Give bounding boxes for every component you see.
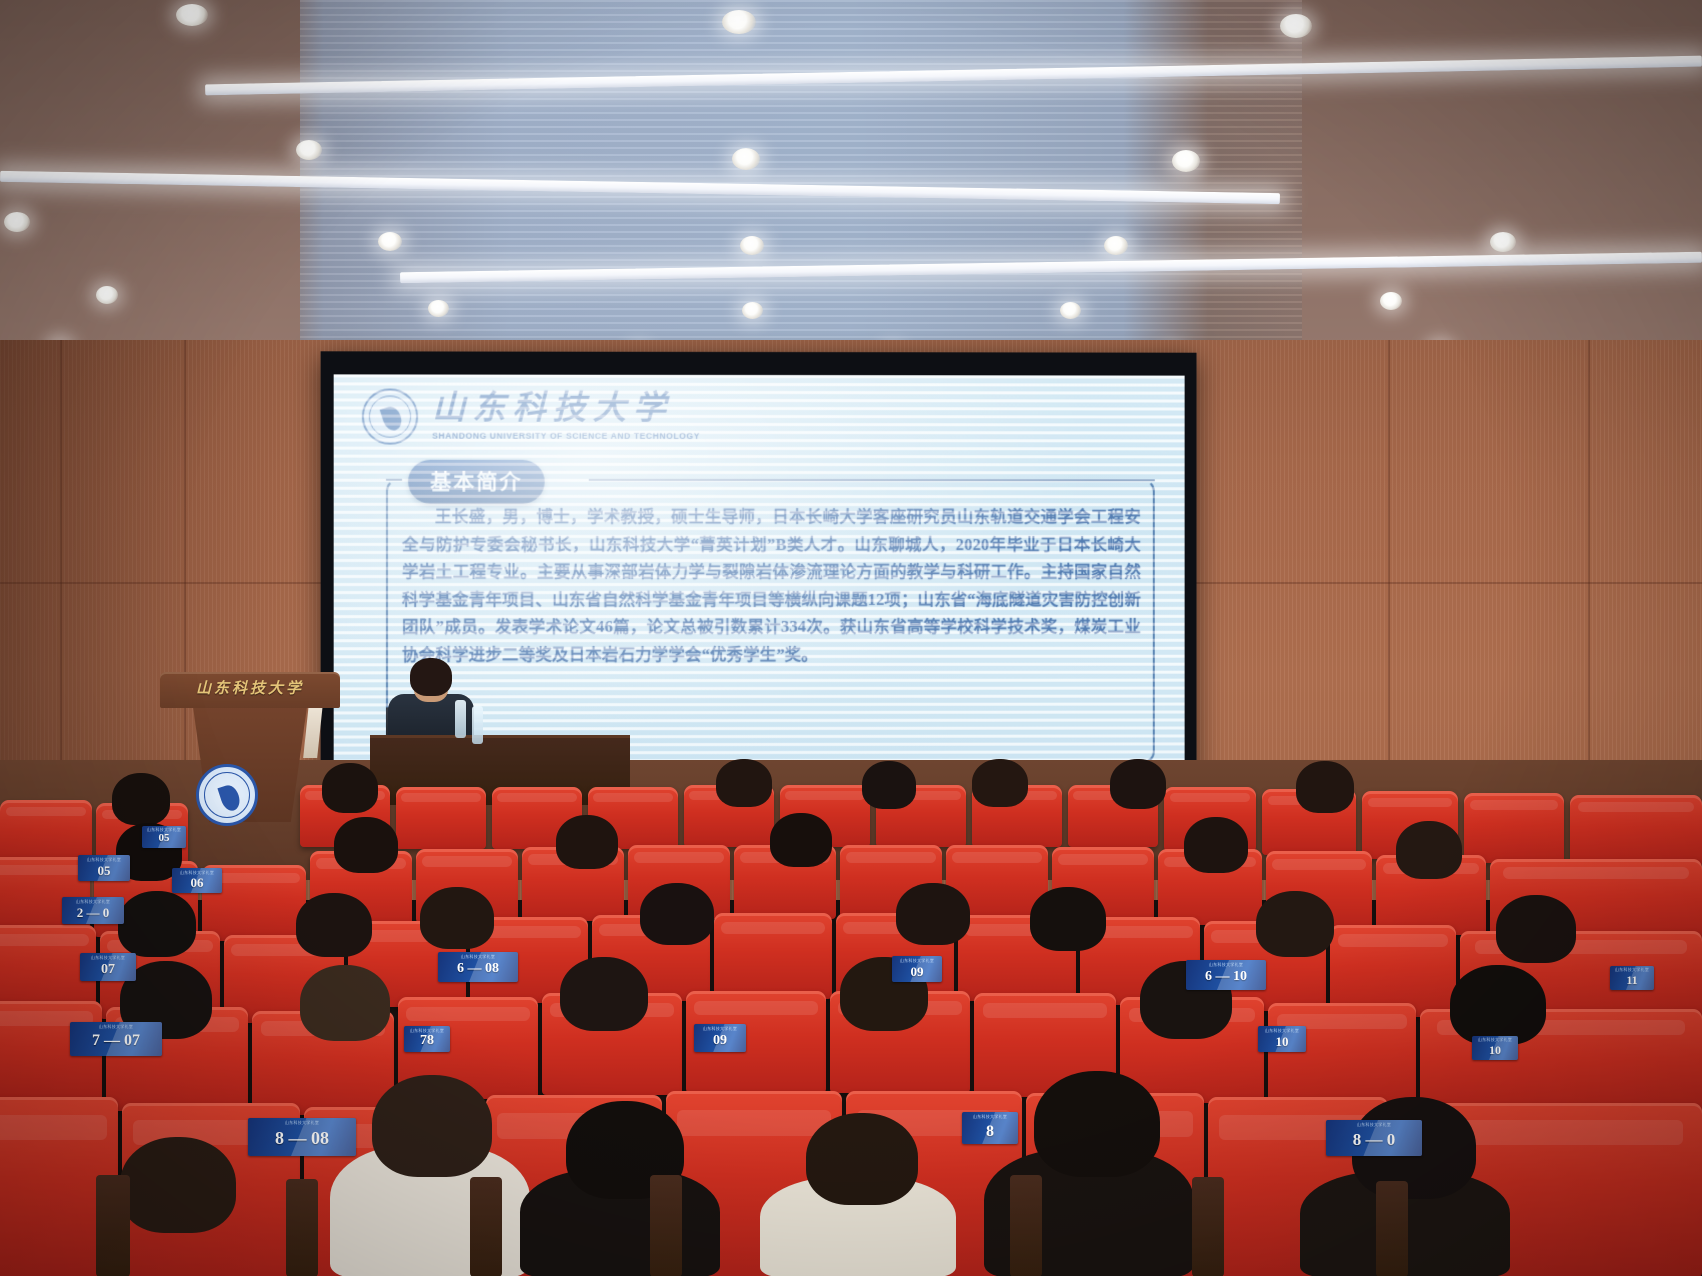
audience-head: [1496, 895, 1576, 963]
audience-head: [1110, 759, 1166, 809]
slide-body-text: 王长盛，男，博士，学术教授，硕士生导师，日本长崎大学客座研究员山东轨道交通学会工…: [402, 503, 1141, 668]
downlight-icon: [296, 140, 322, 160]
seat-number-plate: 山东科技大学礼堂10: [1258, 1026, 1306, 1052]
seat-number-plate: 山东科技大学礼堂05: [142, 826, 186, 848]
seat-plate-header: 山东科技大学礼堂: [1258, 1028, 1306, 1034]
seat-plate-header: 山东科技大学礼堂: [404, 1028, 450, 1034]
seat-number-plate: 山东科技大学礼堂8 — 0: [1326, 1120, 1422, 1156]
seat-plate-number: 6 — 08: [457, 962, 499, 982]
card-border-left: [386, 479, 402, 481]
seat-plate-number: 10: [1489, 1044, 1501, 1060]
audience-head: [1030, 887, 1106, 951]
seat-armrest: [286, 1179, 318, 1276]
audience-head: [120, 1137, 236, 1233]
audience-head: [560, 957, 648, 1031]
seat-number-plate: 山东科技大学礼堂78: [404, 1026, 450, 1052]
audience-head: [806, 1113, 918, 1205]
audience-head: [420, 887, 494, 949]
slide-content-card: 基本简介 王长盛，男，博士，学术教授，硕士生导师，日本长崎大学客座研究员山东轨道…: [386, 479, 1155, 765]
seat-plate-header: 山东科技大学礼堂: [1186, 962, 1266, 968]
university-name-en: SHANDONG UNIVERSITY OF SCIENCE AND TECHN…: [432, 431, 700, 441]
seat-plate-number: 7 — 07: [92, 1033, 140, 1056]
downlight-icon: [732, 148, 760, 170]
seat-number-plate: 山东科技大学礼堂06: [172, 868, 222, 893]
university-name-cn: 山东科技大学: [432, 393, 700, 426]
seat-number-plate: 山东科技大学礼堂07: [80, 953, 136, 981]
audience-head: [1296, 761, 1354, 813]
slide-header: 山东科技大学 SHANDONG UNIVERSITY OF SCIENCE AN…: [362, 388, 700, 444]
downlight-icon: [96, 286, 118, 304]
seat-plate-number: 05: [98, 864, 111, 881]
seat: [396, 787, 486, 849]
seat-plate-number: 8: [986, 1124, 994, 1144]
seat-plate-header: 山东科技大学礼堂: [438, 954, 518, 960]
downlight-icon: [742, 302, 763, 319]
seat-number-plate: 山东科技大学礼堂09: [694, 1024, 746, 1052]
seat-armrest: [1376, 1181, 1408, 1276]
card-border-right: [589, 479, 1155, 481]
seat-armrest: [1010, 1175, 1042, 1276]
seat-plate-header: 山东科技大学礼堂: [1472, 1037, 1518, 1043]
audience-seating: [0, 745, 1702, 1276]
water-bottle: [472, 706, 483, 744]
seat-armrest: [96, 1175, 130, 1276]
seat-plate-number: 07: [101, 963, 115, 981]
seat-plate-number: 09: [911, 965, 924, 982]
seat-plate-header: 山东科技大学礼堂: [248, 1120, 356, 1126]
audience-head: [334, 817, 398, 873]
seat: [714, 913, 832, 999]
audience-head: [322, 763, 378, 813]
water-bottle: [455, 700, 466, 738]
audience-head: [640, 883, 714, 945]
downlight-icon: [1060, 302, 1081, 319]
audience-head: [1034, 1071, 1160, 1177]
audience-head: [300, 965, 390, 1041]
audience-head: [118, 891, 196, 957]
seat-plate-header: 山东科技大学礼堂: [1326, 1122, 1422, 1128]
seat-armrest: [470, 1177, 502, 1276]
seat-plate-header: 山东科技大学礼堂: [142, 827, 186, 833]
seat-plate-number: 09: [713, 1034, 727, 1052]
audience-head: [972, 759, 1028, 807]
downlight-icon: [4, 212, 30, 232]
seat-armrest: [650, 1175, 682, 1276]
seat-number-plate: 山东科技大学礼堂8 — 08: [248, 1118, 356, 1156]
ceiling: [0, 0, 1702, 378]
audience-head: [716, 759, 772, 807]
seat-plate-number: 8 — 08: [275, 1129, 329, 1156]
speaker-head: [410, 658, 452, 696]
seat-number-plate: 山东科技大学礼堂8: [962, 1112, 1018, 1144]
lecture-hall-photo: 山东科技大学 SHANDONG UNIVERSITY OF SCIENCE AN…: [0, 0, 1702, 1276]
seat-plate-number: 78: [420, 1034, 434, 1052]
downlight-icon: [722, 10, 756, 34]
downlight-icon: [1280, 14, 1312, 38]
audience-head: [1450, 965, 1546, 1045]
seat-number-plate: 山东科技大学礼堂6 — 10: [1186, 960, 1266, 990]
seat: [1268, 1003, 1416, 1111]
downlight-icon: [176, 4, 208, 26]
seat-plate-number: 6 — 10: [1205, 970, 1247, 990]
audience-head: [296, 893, 372, 957]
seat-number-plate: 山东科技大学礼堂11: [1610, 966, 1654, 990]
seat-number-plate: 山东科技大学礼堂10: [1472, 1036, 1518, 1060]
seat-number-plate: 山东科技大学礼堂7 — 07: [70, 1022, 162, 1056]
seat-plate-header: 山东科技大学礼堂: [892, 958, 942, 964]
downlight-icon: [1104, 236, 1128, 255]
downlight-icon: [1490, 232, 1516, 252]
downlight-icon: [1380, 292, 1402, 310]
seat-plate-number: 11: [1626, 974, 1637, 990]
audience-head: [1256, 891, 1334, 957]
audience-head: [1396, 821, 1462, 879]
seat-armrest: [1192, 1177, 1224, 1276]
seat-plate-number: 8 — 0: [1353, 1131, 1396, 1156]
seat-number-plate: 山东科技大学礼堂09: [892, 956, 942, 982]
seat-number-plate: 山东科技大学礼堂6 — 08: [438, 952, 518, 982]
seat-plate-number: 06: [191, 876, 204, 893]
downlight-icon: [428, 300, 449, 317]
seat-plate-number: 10: [1276, 1035, 1289, 1052]
seat-plate-number: 2 — 0: [77, 906, 110, 924]
seat-plate-header: 山东科技大学礼堂: [962, 1114, 1018, 1120]
seat-number-plate: 山东科技大学礼堂2 — 0: [62, 897, 124, 924]
seat-plate-header: 山东科技大学礼堂: [1610, 967, 1654, 973]
seat-plate-header: 山东科技大学礼堂: [62, 899, 124, 905]
downlight-icon: [378, 232, 402, 251]
audience-head: [896, 883, 970, 945]
seat-plate-number: 05: [159, 833, 170, 848]
seat-plate-header: 山东科技大学礼堂: [172, 870, 222, 876]
audience-head: [862, 761, 916, 809]
downlight-icon: [740, 236, 764, 255]
downlight-icon: [1172, 150, 1200, 172]
seat-plate-header: 山东科技大学礼堂: [694, 1026, 746, 1032]
audience-head: [770, 813, 832, 867]
seat-number-plate: 山东科技大学礼堂05: [78, 855, 130, 881]
audience-head: [372, 1075, 492, 1177]
seat: [1464, 793, 1564, 863]
seat: [1570, 795, 1702, 867]
podium-engraving: 山东科技大学: [160, 677, 340, 698]
seat-plate-header: 山东科技大学礼堂: [80, 955, 136, 961]
seat-plate-header: 山东科技大学礼堂: [78, 857, 130, 863]
seat-plate-header: 山东科技大学礼堂: [70, 1024, 162, 1030]
sdust-emblem-icon: [362, 388, 418, 444]
audience-head: [556, 815, 618, 869]
slide-section-badge: 基本简介: [408, 460, 545, 504]
audience-head: [112, 773, 170, 825]
audience-head: [1184, 817, 1248, 873]
ceiling-left-soffit: [0, 0, 300, 378]
